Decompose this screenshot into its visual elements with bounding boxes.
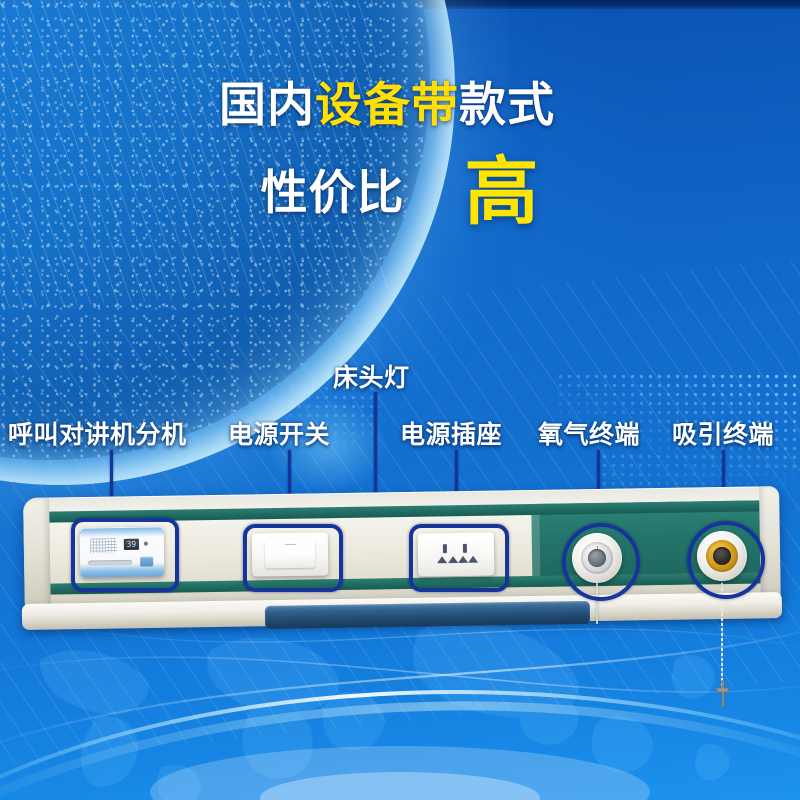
callout-label-socket: 电源插座 [400,415,502,451]
suction-terminal-outlet[interactable] [697,531,747,581]
oxygen-inner [581,542,613,574]
socket-slot-2 [448,556,458,563]
rocker-switch[interactable] [265,540,315,569]
socket-slot-4 [468,556,478,563]
switch-mark [285,544,296,545]
socket-slot-1 [437,556,447,563]
speaker-grille-icon [90,538,117,553]
callout-label-bedlight: 床头灯 [333,358,410,394]
oxygen-terminal-outlet[interactable] [572,533,622,583]
power-switch-plate[interactable] [252,532,329,576]
callout-label-oxygen: 氧气终端 [538,415,640,451]
panel-teal-edge [531,504,540,587]
suction-core [713,547,731,565]
power-socket-plate[interactable] [418,532,495,576]
intercom-call-button[interactable] [140,557,153,567]
oxygen-cord [596,580,598,624]
callout-label-intercom: 呼叫对讲机分机 [8,415,187,451]
panel-end-cap-left [23,498,51,616]
promo-banner: 国内设备带款式 性价比高 呼叫对讲机分机 电源开关 床头灯 电源插座 氧气终端 … [0,0,800,800]
callout-label-suction: 吸引终端 [672,415,774,451]
panel-end-cap-right [759,486,781,604]
nurse-call-intercom-unit[interactable]: 39 [80,526,165,577]
cord-pull-handle-icon[interactable] [712,680,734,715]
oxygen-core [588,549,606,567]
socket-face [432,539,480,570]
intercom-display: 39 [124,539,139,550]
panel-handrail-dark [265,601,590,629]
suction-inner [706,540,738,572]
suction-pull-cord [721,578,723,688]
socket-pin-right [463,544,467,553]
socket-slot-3 [458,556,468,563]
socket-pin-left [443,544,447,553]
intercom-slot [88,560,132,566]
status-led-icon [144,542,148,546]
callout-label-switch: 电源开关 [228,415,330,451]
